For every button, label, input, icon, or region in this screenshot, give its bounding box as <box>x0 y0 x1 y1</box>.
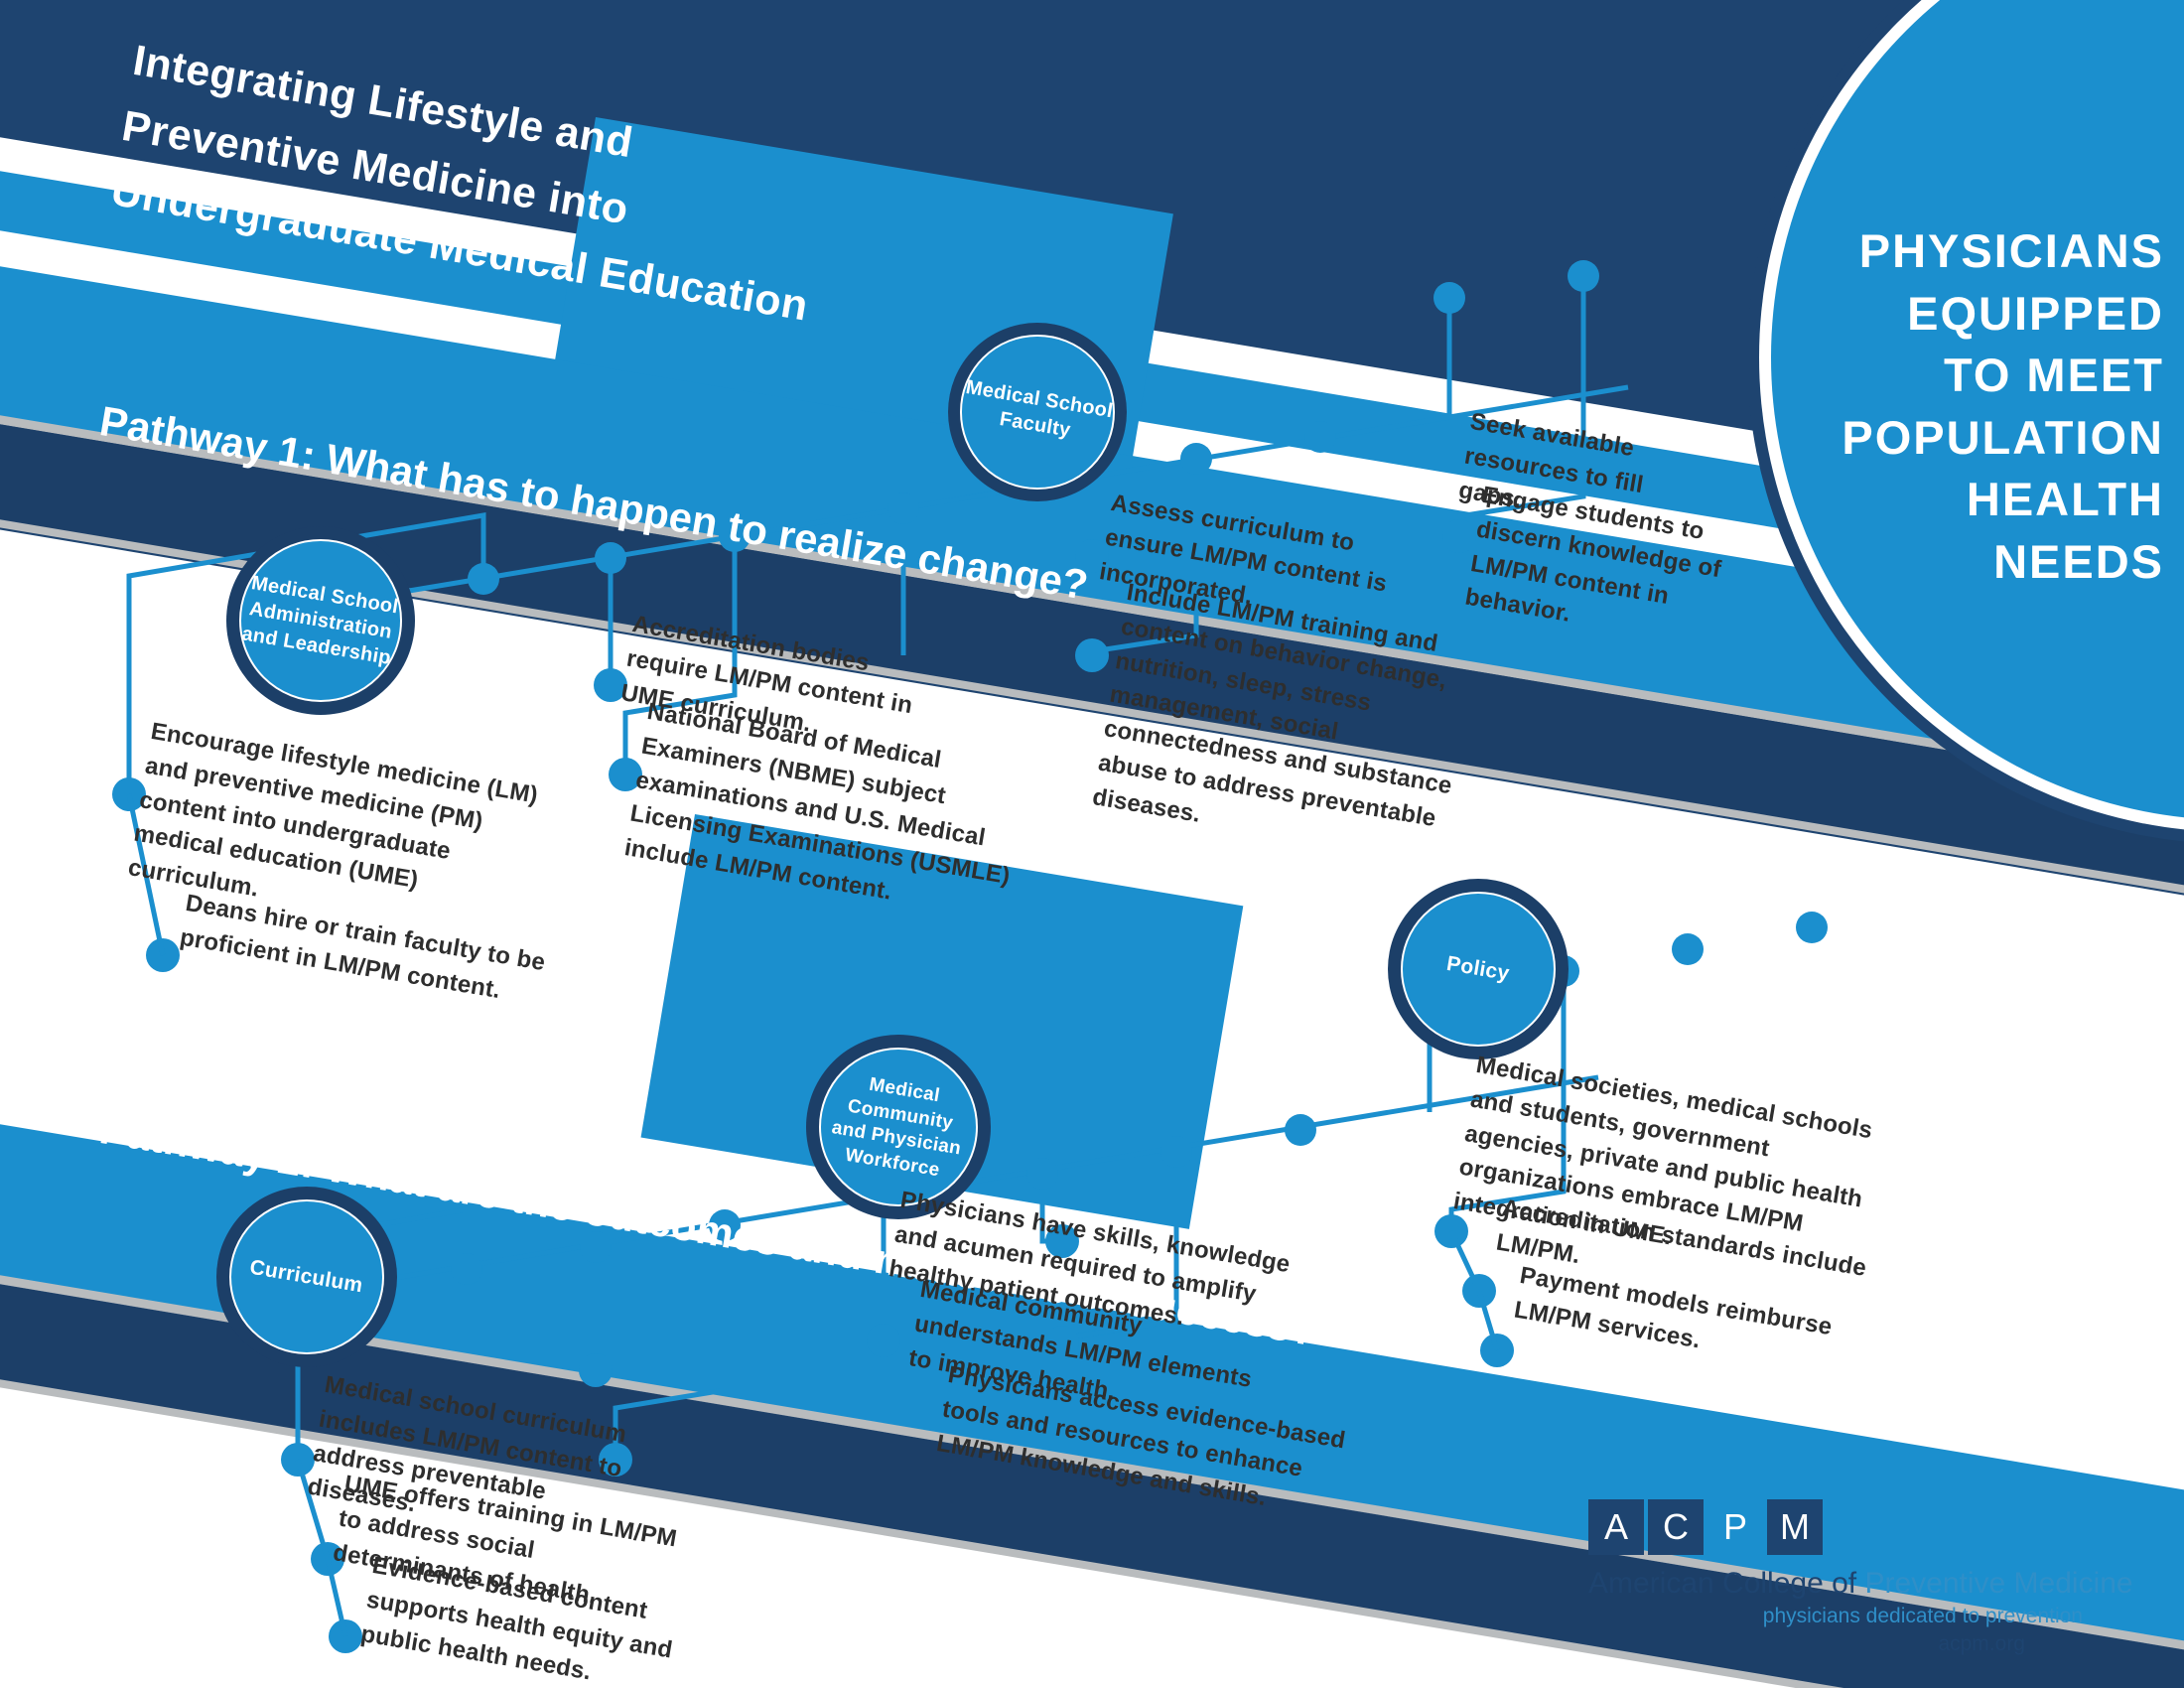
node-label-line: Curriculum <box>248 1254 365 1300</box>
connector-dot <box>1285 1114 1316 1146</box>
connector-dot <box>1180 443 1212 475</box>
acpm-logo-marks: A C P M <box>1588 1499 2105 1555</box>
node-policy[interactable]: Policy <box>1388 879 1569 1059</box>
node-medical-community-and-physician-workforce[interactable]: Medical Community and Physician Workforc… <box>806 1035 991 1219</box>
connector-dot <box>1304 421 1336 453</box>
connector-dot <box>1026 1158 1058 1190</box>
acpm-logo-name-accent: Preventive Medicine <box>1864 1567 2132 1600</box>
acpm-logo[interactable]: A C P M American College of Preventive M… <box>1588 1499 2105 1656</box>
node-fill: Medical School Administration and Leader… <box>239 539 402 702</box>
acpm-logo-name: American College of Preventive Medicine <box>1588 1567 2105 1601</box>
connector-endpoint-dot <box>1075 638 1109 672</box>
node-medical-school-faculty[interactable]: Medical School Faculty <box>948 323 1127 501</box>
node-label: Medical School Faculty <box>960 374 1115 450</box>
logo-letter-c: C <box>1648 1499 1704 1555</box>
node-fill: Policy <box>1401 892 1557 1048</box>
connector-dot <box>887 492 919 524</box>
acpm-logo-name-plain: American College of <box>1588 1567 1864 1600</box>
node-fill: Medical School Faculty <box>960 335 1114 489</box>
node-fill: Curriculum <box>229 1199 385 1355</box>
infographic-poster: Integrating Lifestyle and Preventive Med… <box>0 0 2184 1688</box>
connector-endpoint-dot <box>579 1353 613 1387</box>
node-label: Curriculum <box>248 1254 365 1300</box>
logo-letter-m: M <box>1767 1499 1823 1555</box>
connector-dot <box>468 563 499 595</box>
connector-endpoint-dot <box>867 1324 900 1357</box>
logo-letter-p: P <box>1707 1499 1763 1555</box>
connector-dot <box>1433 282 1465 314</box>
acpm-logo-tagline: physicians dedicated to prevention <box>1588 1605 2105 1628</box>
connector-dot <box>1672 933 1704 965</box>
node-label-line: Policy <box>1444 950 1511 987</box>
node-fill: Medical Community and Physician Workforc… <box>819 1048 978 1206</box>
node-label: Medical Community and Physician Workforc… <box>826 1067 971 1186</box>
node-label: Medical School Administration and Leader… <box>240 570 402 671</box>
node-label: Policy <box>1444 950 1511 987</box>
connector-endpoint-dot <box>1442 519 1476 553</box>
connector-dot <box>1568 260 1599 292</box>
connector-dot <box>1160 1136 1192 1168</box>
node-medical-school-administration-and-leadership[interactable]: Medical School Administration and Leader… <box>226 526 415 715</box>
node-curriculum[interactable]: Curriculum <box>216 1187 397 1367</box>
connector-dot <box>451 1253 482 1285</box>
connector-dot <box>595 542 626 574</box>
logo-letter-a: A <box>1588 1499 1644 1555</box>
acpm-logo-url[interactable]: acpm.org <box>1588 1632 2105 1656</box>
connector-dot <box>1796 912 1828 943</box>
